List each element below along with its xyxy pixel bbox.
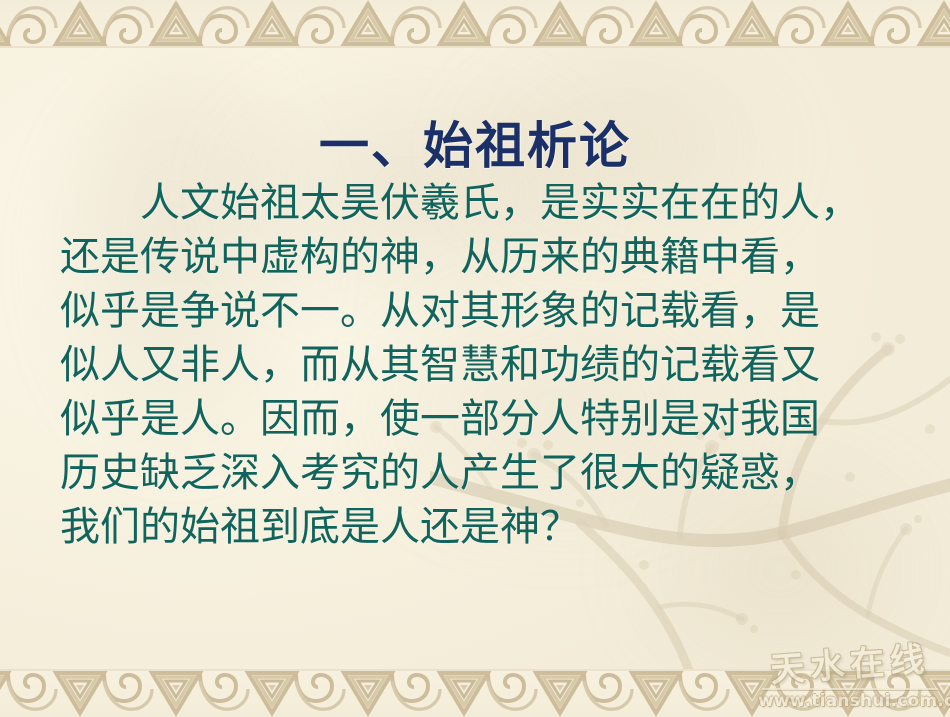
page-title: 一、始祖析论 xyxy=(319,118,631,173)
body-line: 我们的始祖到底是人还是神？ xyxy=(60,500,912,554)
body-line: 似乎是争说不一。从对其形象的记载看，是 xyxy=(60,284,912,338)
top-ornamental-border xyxy=(0,0,950,48)
body-line: 似乎是人。因而，使一部分人特别是对我国 xyxy=(60,392,912,446)
body-line: 历史缺乏深入考究的人产生了很大的疑惑， xyxy=(60,446,912,500)
body-line: 还是传说中虚构的神，从历来的典籍中看， xyxy=(60,230,912,284)
bottom-ornamental-border xyxy=(0,669,950,717)
slide-body-text: 人文始祖太昊伏羲氏，是实实在在的人， 还是传说中虚构的神，从历来的典籍中看， 似… xyxy=(60,176,912,554)
body-line: 似人又非人，而从其智慧和功绩的记载看又 xyxy=(60,338,912,392)
body-line: 人文始祖太昊伏羲氏，是实实在在的人， xyxy=(60,176,912,230)
presentation-slide: 一、始祖析论 人文始祖太昊伏羲氏，是实实在在的人， 还是传说中虚构的神，从历来的… xyxy=(0,0,950,717)
